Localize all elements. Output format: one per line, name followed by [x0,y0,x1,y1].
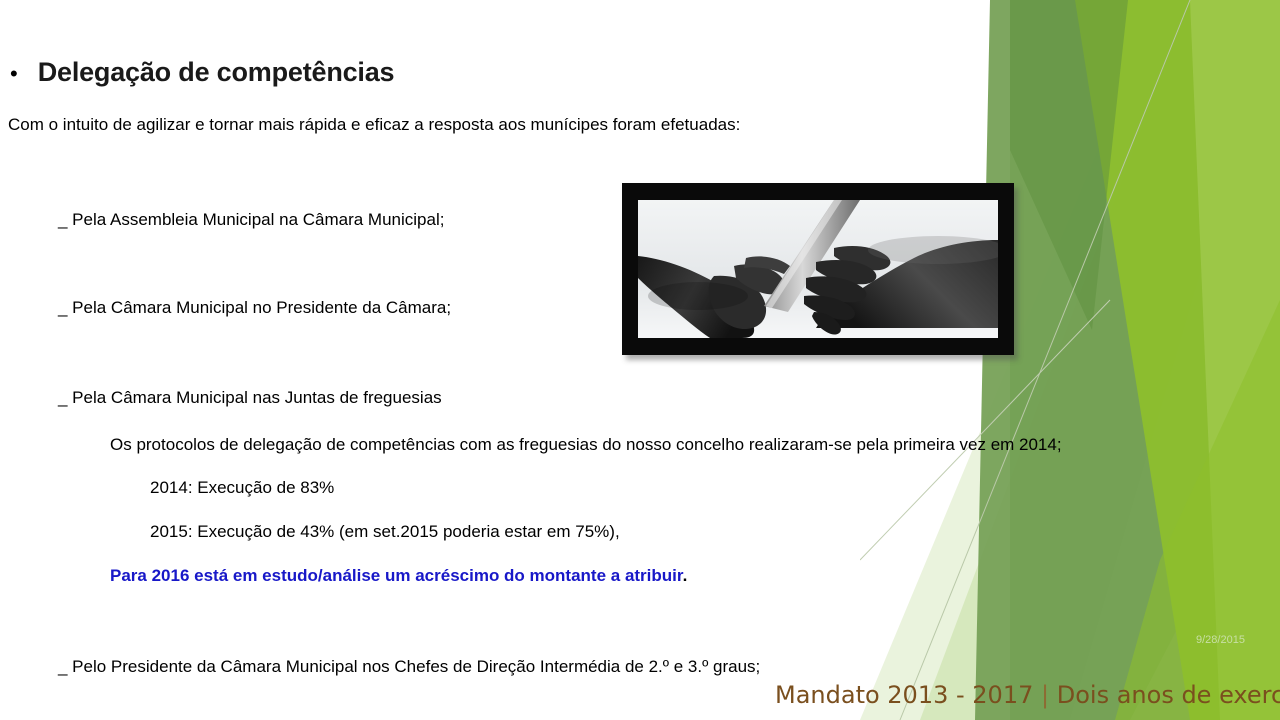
list-item-chefes-direcao: _ Pelo Presidente da Câmara Municipal no… [58,657,760,677]
deco-shape-dark-wedge [1010,0,1128,330]
list-item-camara-presidente: _ Pela Câmara Municipal no Presidente da… [58,298,451,318]
deco-shape-pale-1 [860,0,1280,720]
slide-date: 9/28/2015 [1196,634,1245,646]
bullet-icon: • [10,63,18,85]
footer-mandate-years: Mandato 2013 - 2017 [775,681,1033,709]
sub-item-protocolos: Os protocolos de delegação de competênci… [110,435,1062,455]
deco-shape-pale-2 [920,0,1280,720]
deco-shape-light-1 [1190,0,1280,720]
baton-handoff-photo [638,200,998,338]
photo-frame [622,183,1014,355]
presentation-slide: • Delegação de competências Com o intuit… [0,0,1280,720]
sub-item-execucao-2015: 2015: Execução de 43% (em set.2015 poder… [150,522,620,542]
slide-title: • Delegação de competências [10,57,394,88]
deco-shape-mid-1 [975,0,1280,720]
highlight-note: Para 2016 está em estudo/análise um acré… [110,566,687,586]
deco-shape-bright-1 [1075,0,1280,720]
decorative-green-polygons [860,0,1280,720]
footer-separator: | [1041,681,1049,709]
highlight-text: Para 2016 está em estudo/análise um acré… [110,566,683,585]
page-title: Delegação de competências [38,57,395,88]
list-item-assembleia: _ Pela Assembleia Municipal na Câmara Mu… [58,210,444,230]
deco-hairline-1 [900,0,1190,720]
footer-subtitle: Dois anos de exercício [1057,681,1280,709]
list-item-juntas-freguesias: _ Pela Câmara Municipal nas Juntas de fr… [58,388,442,408]
deco-shape-bright-2 [1115,300,1280,720]
deco-shape-dark-1 [1010,0,1280,720]
highlight-period: . [683,566,688,585]
sub-item-execucao-2014: 2014: Execução de 83% [150,478,334,498]
lead-paragraph: Com o intuito de agilizar e tornar mais … [8,115,740,135]
footer-mandate: Mandato 2013 - 2017 | Dois anos de exerc… [775,681,1280,709]
